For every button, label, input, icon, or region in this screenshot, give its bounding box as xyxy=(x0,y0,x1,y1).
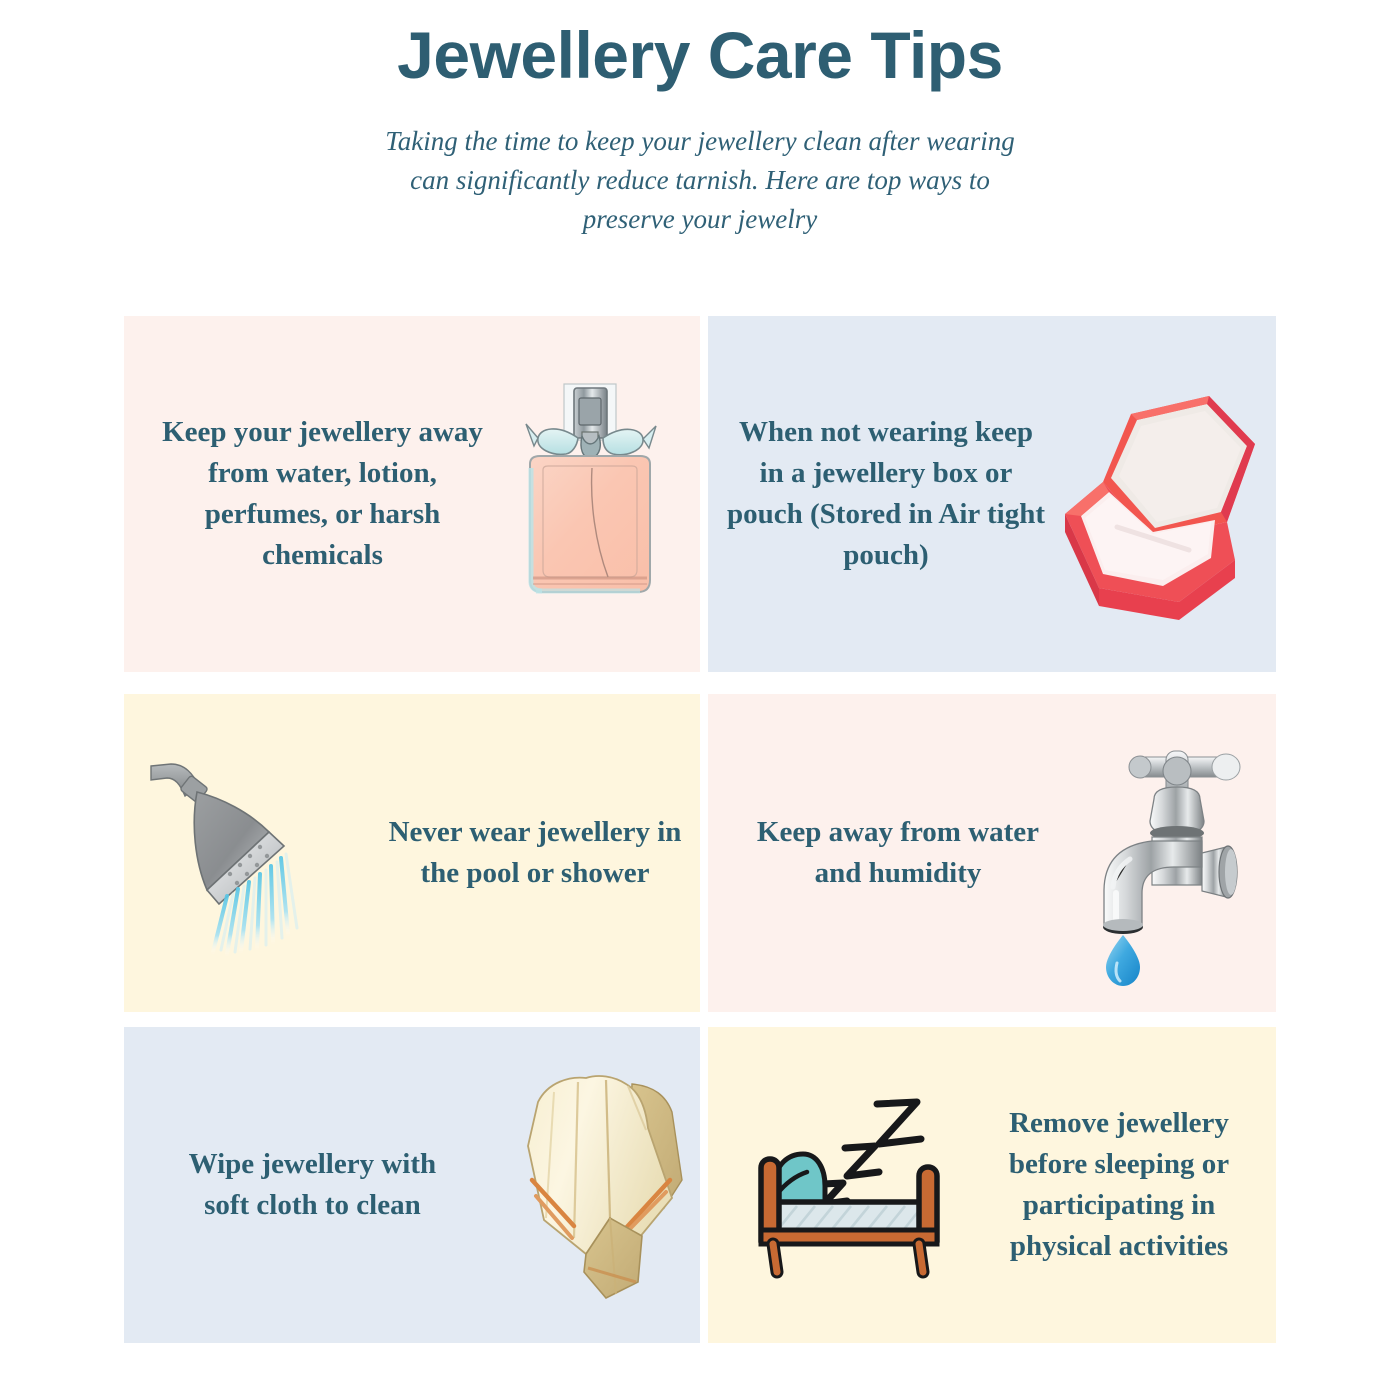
tip-text: Wipe jewellery with soft cloth to clean xyxy=(172,1144,453,1226)
perfume-bottle-icon xyxy=(495,372,685,617)
tip-card-away-from-water: Keep away from water and humidity xyxy=(701,673,1276,1013)
tip-card-away-from-chemicals: Keep your jewellery away from water, lot… xyxy=(124,316,701,673)
infographic-page: Jewellery Care Tips Taking the time to k… xyxy=(0,0,1400,1400)
header: Jewellery Care Tips Taking the time to k… xyxy=(0,0,1400,239)
tip-text: Never wear jewellery in the pool or show… xyxy=(380,812,690,894)
jewellery-box-icon xyxy=(1056,382,1271,607)
page-subtitle: Taking the time to keep your jewellery c… xyxy=(380,122,1020,239)
bed-sleep-icon xyxy=(736,1090,966,1280)
tip-card-no-pool-or-shower: Never wear jewellery in the pool or show… xyxy=(124,673,701,1013)
tip-text: Keep your jewellery away from water, lot… xyxy=(150,412,495,577)
tip-text: Keep away from water and humidity xyxy=(753,812,1043,894)
shower-head-icon xyxy=(142,746,362,961)
tip-text: Remove jewellery before sleeping or part… xyxy=(984,1103,1254,1268)
faucet-icon xyxy=(1063,741,1263,966)
tips-grid: Keep your jewellery away from water, lot… xyxy=(124,316,1276,1343)
cloth-icon xyxy=(513,1068,700,1303)
tip-card-store-in-box: When not wearing keep in a jewellery box… xyxy=(701,316,1276,673)
page-title: Jewellery Care Tips xyxy=(0,18,1400,94)
tip-text: When not wearing keep in a jewellery box… xyxy=(726,412,1046,577)
tip-card-wipe-with-cloth: Wipe jewellery with soft cloth to clean xyxy=(124,1013,701,1343)
tip-card-remove-before-sleeping: Remove jewellery before sleeping or part… xyxy=(701,1013,1276,1343)
